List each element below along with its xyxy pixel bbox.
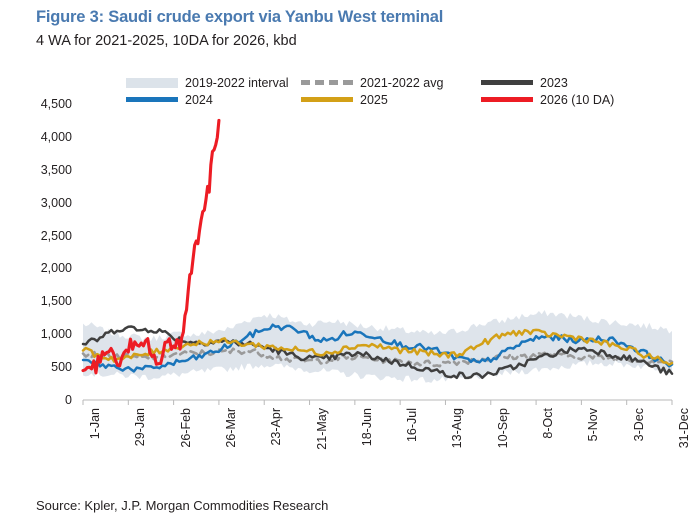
legend-item-2021-2022-avg[interactable]: 2021-2022 avg xyxy=(301,76,481,90)
x-axis-tick-label: 21-May xyxy=(315,408,329,450)
x-axis-tick-label: 8-Oct xyxy=(541,408,555,439)
legend-label-avg: 2021-2022 avg xyxy=(360,76,443,90)
legend-swatch-interval-icon xyxy=(126,78,178,88)
legend-item-2023[interactable]: 2023 xyxy=(481,76,641,90)
x-axis-tick-label: 13-Aug xyxy=(450,408,464,448)
legend-label-2023: 2023 xyxy=(540,76,568,90)
x-axis-tick-label: 31-Dec xyxy=(677,408,691,448)
x-axis-tick-label: 10-Sep xyxy=(496,408,510,448)
legend-label-interval: 2019-2022 interval xyxy=(185,76,289,90)
legend-row-1: 2019-2022 interval 2021-2022 avg 2023 xyxy=(126,74,646,91)
figure-root: Figure 3: Saudi crude export via Yanbu W… xyxy=(0,0,695,524)
plot-area: 05001,0001,5002,0002,5003,0003,5004,0004… xyxy=(0,96,695,406)
x-axis-tick-label: 26-Feb xyxy=(179,408,193,448)
chart-canvas xyxy=(0,96,695,406)
x-axis-tick-label: 29-Jan xyxy=(133,408,147,446)
x-axis-tick-label: 18-Jun xyxy=(360,408,374,446)
legend-swatch-avg-icon xyxy=(301,80,353,85)
x-axis-tick-label: 26-Mar xyxy=(224,408,238,448)
x-axis-tick-label: 23-Apr xyxy=(269,408,283,446)
x-axis-tick-label: 5-Nov xyxy=(586,408,600,441)
legend-item-2019-2022-interval[interactable]: 2019-2022 interval xyxy=(126,76,301,90)
x-axis-labels: 1-Jan29-Jan26-Feb26-Mar23-Apr21-May18-Ju… xyxy=(0,404,695,474)
legend-swatch-2023-icon xyxy=(481,80,533,85)
x-axis-tick-label: 3-Dec xyxy=(632,408,646,441)
figure-title: Figure 3: Saudi crude export via Yanbu W… xyxy=(36,8,443,27)
source-note: Source: Kpler, J.P. Morgan Commodities R… xyxy=(36,498,328,513)
x-axis-tick-label: 16-Jul xyxy=(405,408,419,442)
figure-subtitle: 4 WA for 2021-2025, 10DA for 2026, kbd xyxy=(36,33,297,49)
x-axis-tick-label: 1-Jan xyxy=(88,408,102,439)
